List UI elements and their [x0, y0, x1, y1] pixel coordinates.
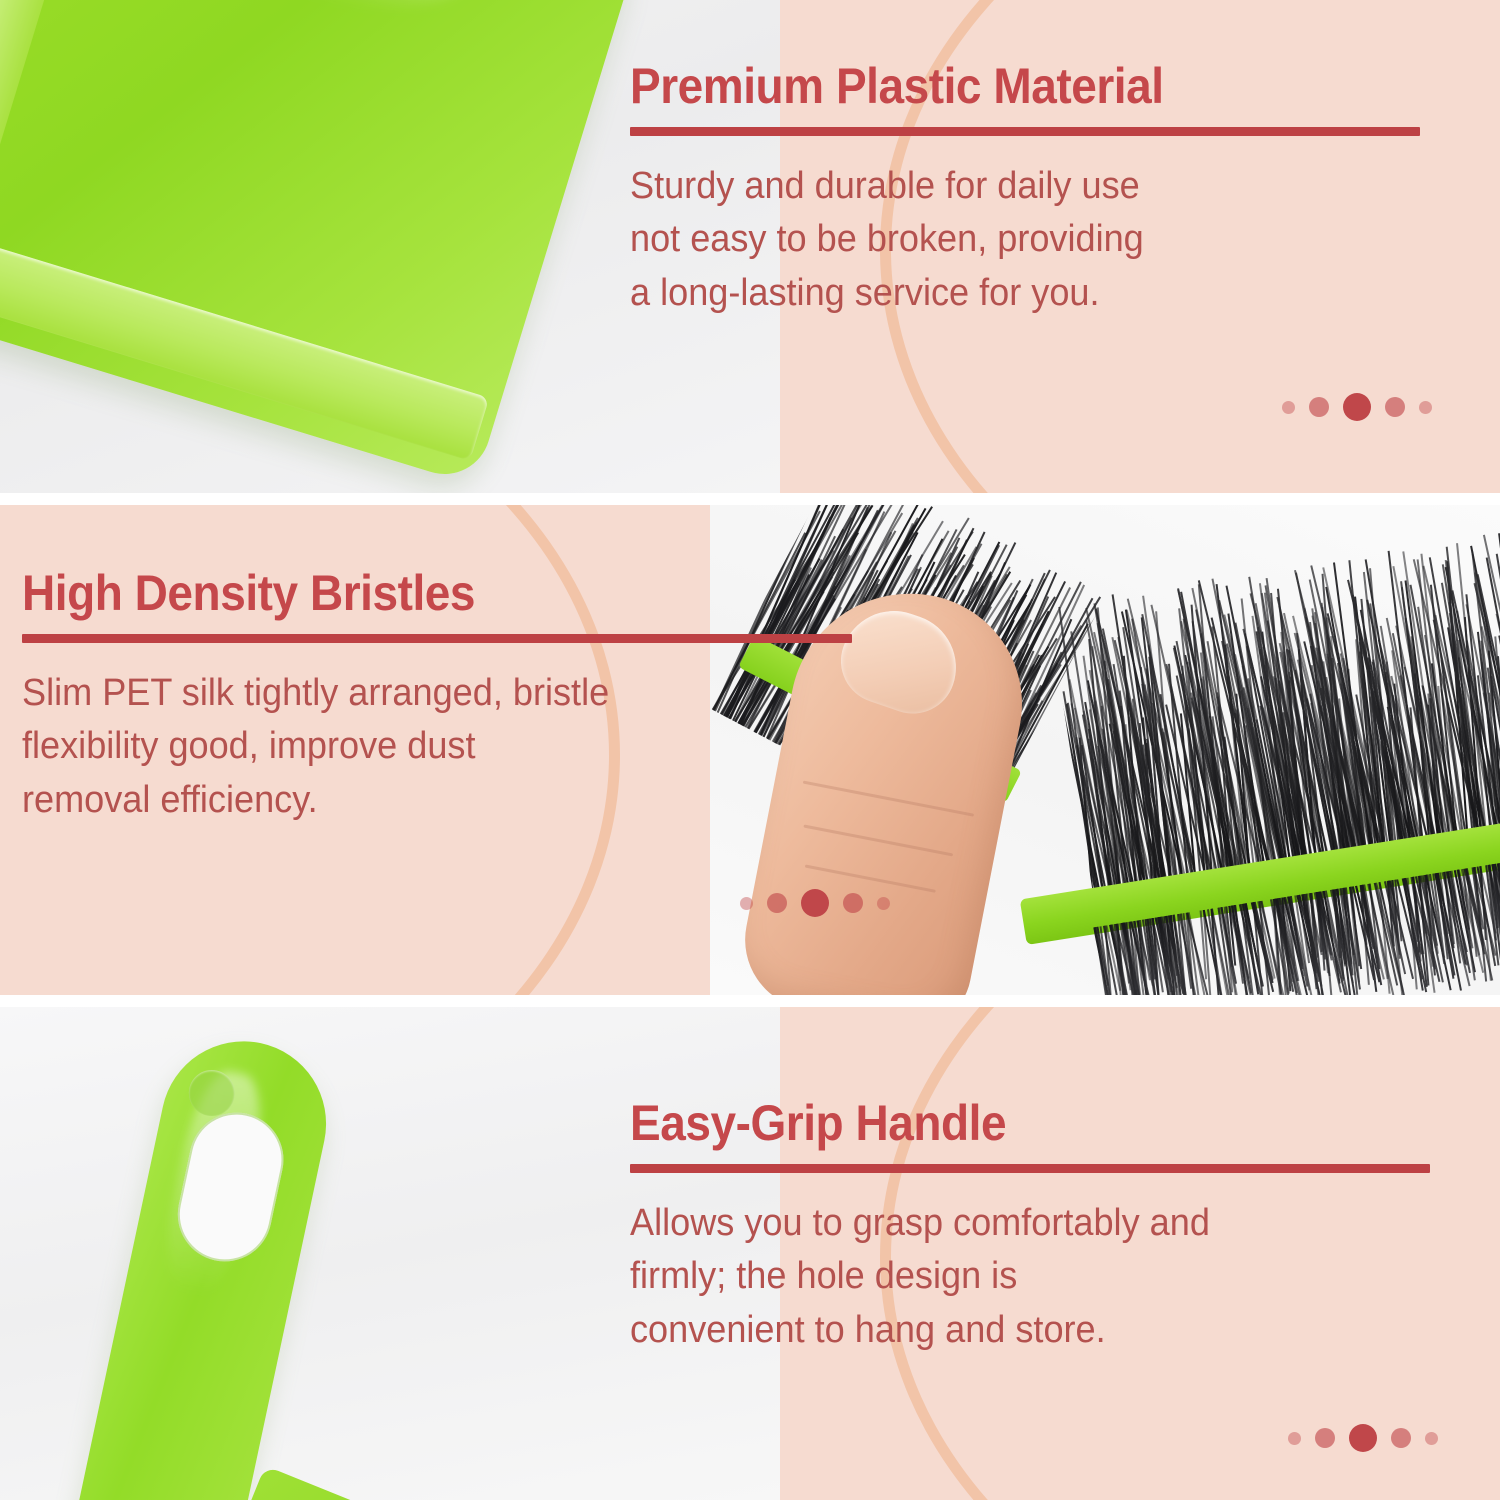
panel-3-copy: Easy-Grip Handle Allows you to grasp com…	[630, 1097, 1450, 1358]
panel-2-copy: High Density Bristles Slim PET silk tigh…	[22, 567, 882, 828]
decor-dot	[1343, 393, 1371, 421]
decor-dot	[1385, 397, 1405, 417]
feature-panel-premium-plastic-material: Premium Plastic Material Sturdy and dura…	[0, 0, 1500, 493]
decor-dot	[1288, 1432, 1301, 1445]
feature-panel-high-density-bristles: High Density Bristles Slim PET silk tigh…	[0, 505, 1500, 995]
panel-2-heading: High Density Bristles	[22, 567, 813, 620]
decor-dot	[1419, 401, 1432, 414]
panel-3-body-line-2: firmly; the hole design is	[630, 1250, 1409, 1304]
panel-2-body-line-1: Slim PET silk tightly arranged, bristle	[22, 667, 839, 721]
panel-2-body: Slim PET silk tightly arranged, bristle …	[22, 667, 839, 829]
panel-1-body-line-3: a long-lasting service for you.	[630, 267, 1409, 321]
decor-dot	[1425, 1432, 1438, 1445]
panel-1-heading: Premium Plastic Material	[630, 60, 1384, 113]
decor-dot	[877, 897, 890, 910]
panel-2-body-line-3: removal efficiency.	[22, 774, 839, 828]
panel-3-heading: Easy-Grip Handle	[630, 1097, 1384, 1150]
decor-dot	[740, 897, 753, 910]
feature-panel-easy-grip-handle: Easy-Grip Handle Allows you to grasp com…	[0, 1007, 1500, 1500]
decor-dot	[801, 889, 829, 917]
panel-3-body-line-1: Allows you to grasp comfortably and	[630, 1197, 1409, 1251]
decor-dot	[767, 893, 787, 913]
pan-highlight	[104, 0, 484, 38]
decor-dot	[1349, 1424, 1377, 1452]
decor-dot	[1309, 397, 1329, 417]
panel-3-heading-rule	[630, 1164, 1430, 1173]
panel-divider-1	[0, 493, 1500, 505]
skin-crease	[803, 825, 953, 857]
panel-3-body-line-3: convenient to hang and store.	[630, 1304, 1409, 1358]
panel-1-body-line-1: Sturdy and durable for daily use	[630, 160, 1409, 214]
panel-2-dot-decoration	[740, 889, 890, 917]
panel-divider-2	[0, 995, 1500, 1007]
panel-3-body: Allows you to grasp comfortably and firm…	[630, 1197, 1409, 1359]
product-feature-infographic: Premium Plastic Material Sturdy and dura…	[0, 0, 1500, 1500]
decor-dot	[1391, 1428, 1411, 1448]
panel-3-dot-decoration	[1288, 1424, 1438, 1452]
panel-1-body: Sturdy and durable for daily use not eas…	[630, 160, 1409, 322]
panel-2-body-line-2: flexibility good, improve dust	[22, 720, 839, 774]
decor-dot	[1282, 401, 1295, 414]
pan-side-edge	[0, 0, 99, 238]
panel-1-body-line-2: not easy to be broken, providing	[630, 213, 1409, 267]
panel-1-dot-decoration	[1282, 393, 1432, 421]
panel-1-copy: Premium Plastic Material Sturdy and dura…	[630, 60, 1450, 321]
panel-2-heading-rule	[22, 634, 852, 643]
panel-1-heading-rule	[630, 127, 1420, 136]
decor-dot	[1315, 1428, 1335, 1448]
decor-dot	[843, 893, 863, 913]
